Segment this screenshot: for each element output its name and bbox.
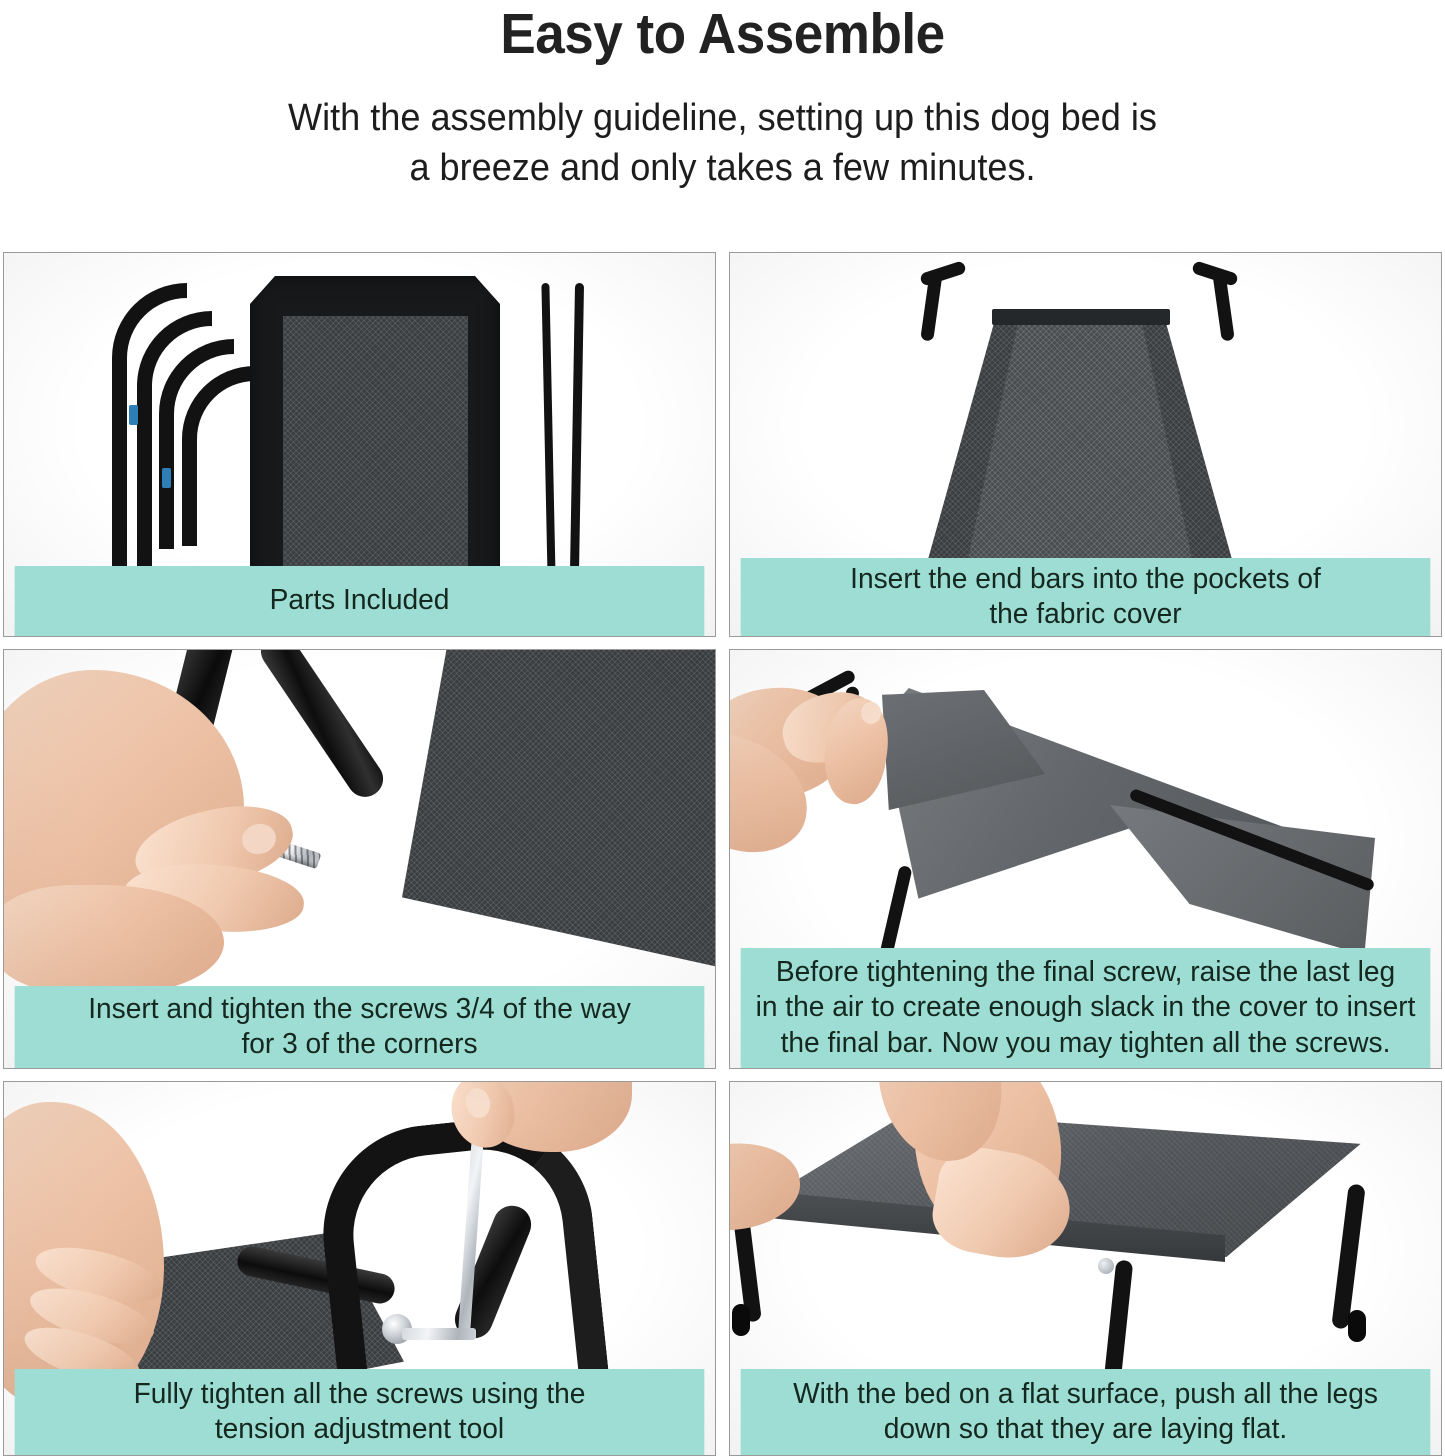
page-header: Easy to Assemble With the assembly guide… bbox=[0, 0, 1445, 193]
step-4-caption-text: Before tightening the final screw, raise… bbox=[756, 955, 1416, 1061]
step-panel-5: Fully tighten all the screws using the t… bbox=[3, 1081, 716, 1456]
bed-leg-right bbox=[1331, 1184, 1366, 1330]
step-6-caption-line-1: With the bed on a flat surface, push all… bbox=[793, 1378, 1378, 1410]
page-title: Easy to Assemble bbox=[51, 2, 1395, 65]
step-panel-2: Insert the end bars into the pockets of … bbox=[729, 252, 1442, 637]
step-panel-1: Parts Included bbox=[3, 252, 716, 637]
hex-key-short-arm bbox=[402, 1328, 476, 1340]
step-3-caption-text: Insert and tighten the screws 3/4 of the… bbox=[88, 992, 631, 1063]
subtitle-line-1: With the assembly guideline, setting up … bbox=[36, 93, 1409, 143]
step-4-caption-line-2: in the air to create enough slack in the… bbox=[756, 991, 1416, 1023]
hand-left-edge bbox=[730, 1137, 804, 1237]
step-4-caption: Before tightening the final screw, raise… bbox=[741, 948, 1431, 1068]
rear-leg-left-hook bbox=[919, 260, 967, 287]
step-4-caption-line-3: the final bar. Now you may tighten all t… bbox=[781, 1027, 1391, 1059]
step-3-caption-line-2: for 3 of the corners bbox=[241, 1028, 477, 1060]
step-2-caption-text: Insert the end bars into the pockets of … bbox=[850, 562, 1321, 633]
bed-corner-screw bbox=[1098, 1258, 1114, 1274]
step-6-caption: With the bed on a flat surface, push all… bbox=[741, 1369, 1431, 1455]
step-2-caption-line-2: the fabric cover bbox=[989, 598, 1181, 630]
step-1-caption: Parts Included bbox=[15, 566, 705, 636]
mesh-fabric-region bbox=[402, 650, 715, 970]
step-3-caption: Insert and tighten the screws 3/4 of the… bbox=[15, 986, 705, 1068]
leg-label-1 bbox=[129, 405, 138, 425]
page-subtitle: With the assembly guideline, setting up … bbox=[36, 65, 1409, 193]
fingernail-2 bbox=[861, 702, 881, 724]
step-5-caption-line-1: Fully tighten all the screws using the bbox=[134, 1378, 586, 1410]
bed-leg-right-foot bbox=[1348, 1310, 1366, 1342]
draped-cover-lower-right bbox=[1110, 805, 1375, 955]
step-6-caption-text: With the bed on a flat surface, push all… bbox=[793, 1377, 1378, 1448]
step-3-caption-line-1: Insert and tighten the screws 3/4 of the… bbox=[88, 993, 631, 1025]
step-5-caption-text: Fully tighten all the screws using the t… bbox=[134, 1377, 586, 1448]
step-5-caption-line-2: tension adjustment tool bbox=[215, 1413, 504, 1445]
assembly-steps-grid: Parts Included bbox=[3, 252, 1442, 1456]
step-panel-3: Insert and tighten the screws 3/4 of the… bbox=[3, 649, 716, 1069]
end-bar-tube bbox=[254, 650, 390, 804]
step-6-caption-line-2: down so that they are laying flat. bbox=[884, 1413, 1287, 1445]
step-1-caption-text: Parts Included bbox=[270, 583, 450, 618]
step-5-caption: Fully tighten all the screws using the t… bbox=[15, 1369, 705, 1455]
bed-leg-front-left-foot bbox=[732, 1304, 750, 1336]
step-2-caption-line-1: Insert the end bars into the pockets of bbox=[850, 563, 1321, 595]
leg-label-2 bbox=[162, 468, 171, 488]
subtitle-line-2: a breeze and only takes a few minutes. bbox=[36, 143, 1409, 193]
step-panel-4: Before tightening the final screw, raise… bbox=[729, 649, 1442, 1069]
step-panel-6: With the bed on a flat surface, push all… bbox=[729, 1081, 1442, 1456]
bed-top-hem bbox=[992, 309, 1170, 325]
step-2-caption: Insert the end bars into the pockets of … bbox=[741, 558, 1431, 636]
step-4-caption-line-1: Before tightening the final screw, raise… bbox=[776, 956, 1395, 988]
